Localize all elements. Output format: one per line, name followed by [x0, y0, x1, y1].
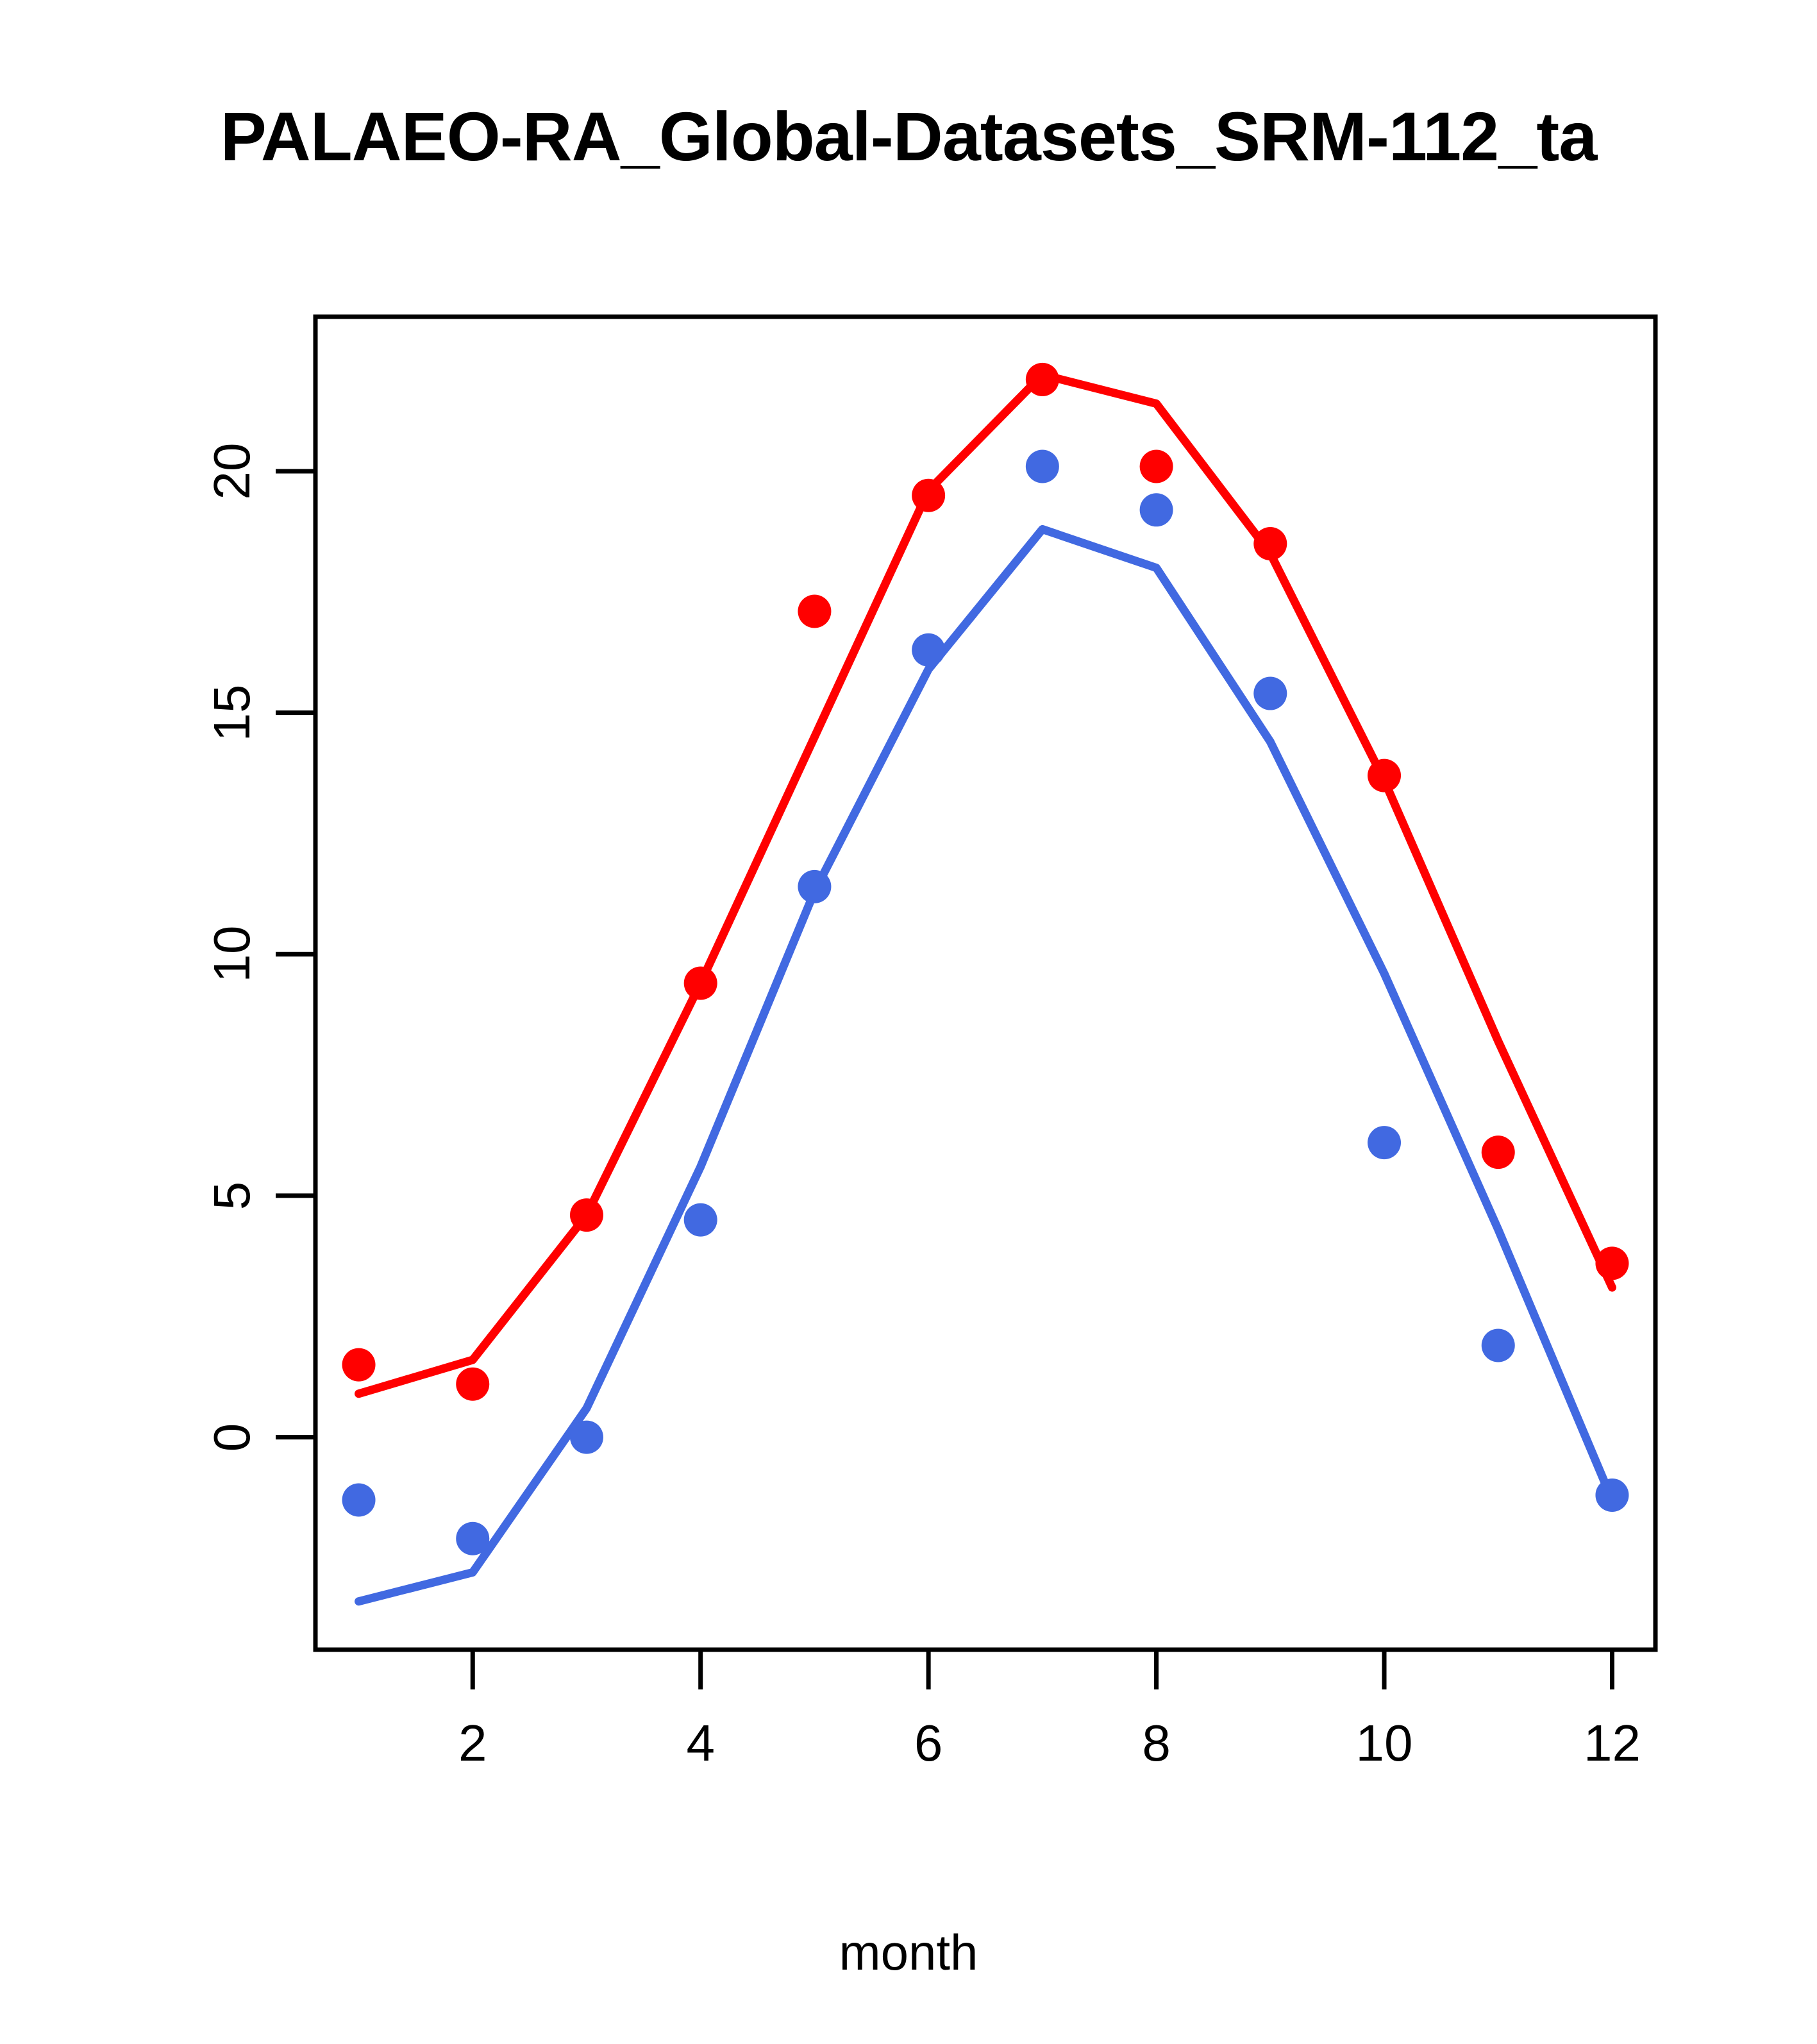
data-point-red-points [912, 479, 945, 512]
data-point-blue-points [1140, 493, 1173, 526]
data-point-blue-points [570, 1421, 603, 1454]
data-point-red-points [1482, 1135, 1515, 1169]
data-point-red-points [1253, 527, 1287, 560]
x-tick-label: 4 [686, 1714, 715, 1773]
x-tick-label: 8 [1142, 1714, 1171, 1773]
plot-border [315, 317, 1655, 1650]
data-point-red-points [684, 967, 717, 1000]
data-point-blue-points [1595, 1479, 1629, 1512]
chart-canvas: PALAEO-RA_Global-Datasets_SRM-112_ta 246… [0, 0, 1817, 2044]
data-point-red-points [570, 1198, 603, 1232]
y-tick-label: 15 [203, 684, 262, 741]
data-point-blue-points [798, 870, 831, 903]
series-line-blue-line [359, 529, 1612, 1601]
data-point-blue-points [912, 633, 945, 667]
data-point-red-points [342, 1348, 376, 1382]
plot-frame [315, 317, 1655, 1650]
series-layer [342, 363, 1629, 1602]
plot-area [0, 0, 1817, 2044]
y-tick-label: 20 [203, 443, 262, 500]
data-point-red-points [1595, 1246, 1629, 1280]
data-point-blue-points [684, 1203, 717, 1237]
data-point-blue-points [1482, 1328, 1515, 1362]
data-point-blue-points [456, 1522, 489, 1555]
data-point-red-points [1368, 759, 1401, 792]
x-tick-label: 6 [914, 1714, 943, 1773]
data-point-blue-points [1026, 450, 1059, 483]
x-tick-label: 12 [1584, 1714, 1641, 1773]
data-point-blue-points [1368, 1126, 1401, 1159]
data-point-red-points [798, 594, 831, 628]
data-point-red-points [456, 1368, 489, 1401]
series-line-red-line [359, 374, 1612, 1393]
y-tick-label: 10 [203, 926, 262, 983]
x-tick-label: 2 [458, 1714, 487, 1773]
data-point-blue-points [1253, 677, 1287, 710]
y-tick-label: 5 [203, 1182, 262, 1210]
data-point-blue-points [342, 1483, 376, 1516]
x-axis-label: month [0, 1923, 1817, 1982]
data-point-red-points [1140, 450, 1173, 483]
data-point-red-points [1026, 363, 1059, 396]
y-tick-label: 0 [203, 1423, 262, 1452]
x-tick-label: 10 [1356, 1714, 1413, 1773]
